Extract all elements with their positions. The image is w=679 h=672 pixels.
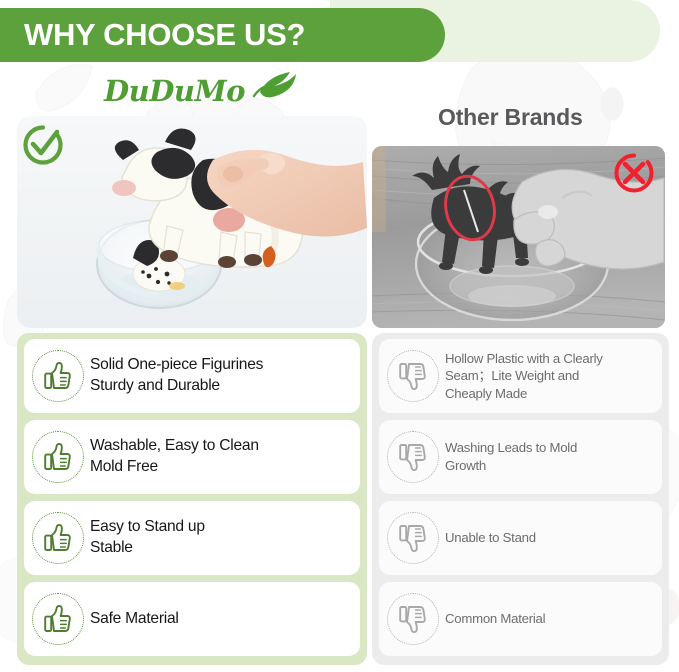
banner: WHY CHOOSE US? (0, 8, 445, 62)
drawback-card[interactable]: Washing Leads to MoldGrowth (379, 420, 662, 494)
drawback-text: Common Material (445, 610, 545, 628)
feature-card[interactable]: Washable, Easy to CleanMold Free (24, 420, 360, 494)
leaf-swoosh-icon (252, 68, 298, 98)
thumbs-down-icon (387, 431, 439, 483)
drawback-card[interactable]: Unable to Stand (379, 501, 662, 575)
feature-text: Solid One-piece FigurinesSturdy and Dura… (90, 355, 263, 396)
drawback-text: Unable to Stand (445, 529, 536, 547)
drawback-card[interactable]: Hollow Plastic with a ClearlySeam；Lite W… (379, 339, 662, 413)
product-photo-ours (17, 116, 367, 328)
check-circle-icon (22, 124, 64, 166)
feature-card[interactable]: Solid One-piece FigurinesSturdy and Dura… (24, 339, 360, 413)
drawback-text: Hollow Plastic with a ClearlySeam；Lite W… (445, 350, 603, 403)
feature-text: Easy to Stand upStable (90, 517, 205, 558)
thumbs-up-icon (32, 350, 84, 402)
why-choose-us-infographic: WHY CHOOSE US? DuDuMo Other Brands (0, 0, 679, 672)
page-title: WHY CHOOSE US? (0, 17, 305, 53)
feature-text: Safe Material (90, 609, 179, 630)
cross-circle-icon (613, 152, 655, 194)
feature-card[interactable]: Safe Material (24, 582, 360, 656)
comparison-column-ours: Solid One-piece FigurinesSturdy and Dura… (17, 333, 367, 665)
other-brands-label: Other Brands (438, 104, 583, 131)
thumbs-up-icon (32, 593, 84, 645)
brand-logo-text: DuDuMo (104, 74, 245, 108)
thumbs-down-icon (387, 350, 439, 402)
feature-text: Washable, Easy to CleanMold Free (90, 436, 259, 477)
feature-card[interactable]: Easy to Stand upStable (24, 501, 360, 575)
thumbs-down-icon (387, 593, 439, 645)
thumbs-up-icon (32, 431, 84, 483)
thumbs-down-icon (387, 512, 439, 564)
drawback-card[interactable]: Common Material (379, 582, 662, 656)
thumbs-up-icon (32, 512, 84, 564)
drawback-text: Washing Leads to MoldGrowth (445, 439, 577, 474)
comparison-column-theirs: Hollow Plastic with a ClearlySeam；Lite W… (372, 333, 669, 665)
brand-logo: DuDuMo (104, 74, 304, 114)
